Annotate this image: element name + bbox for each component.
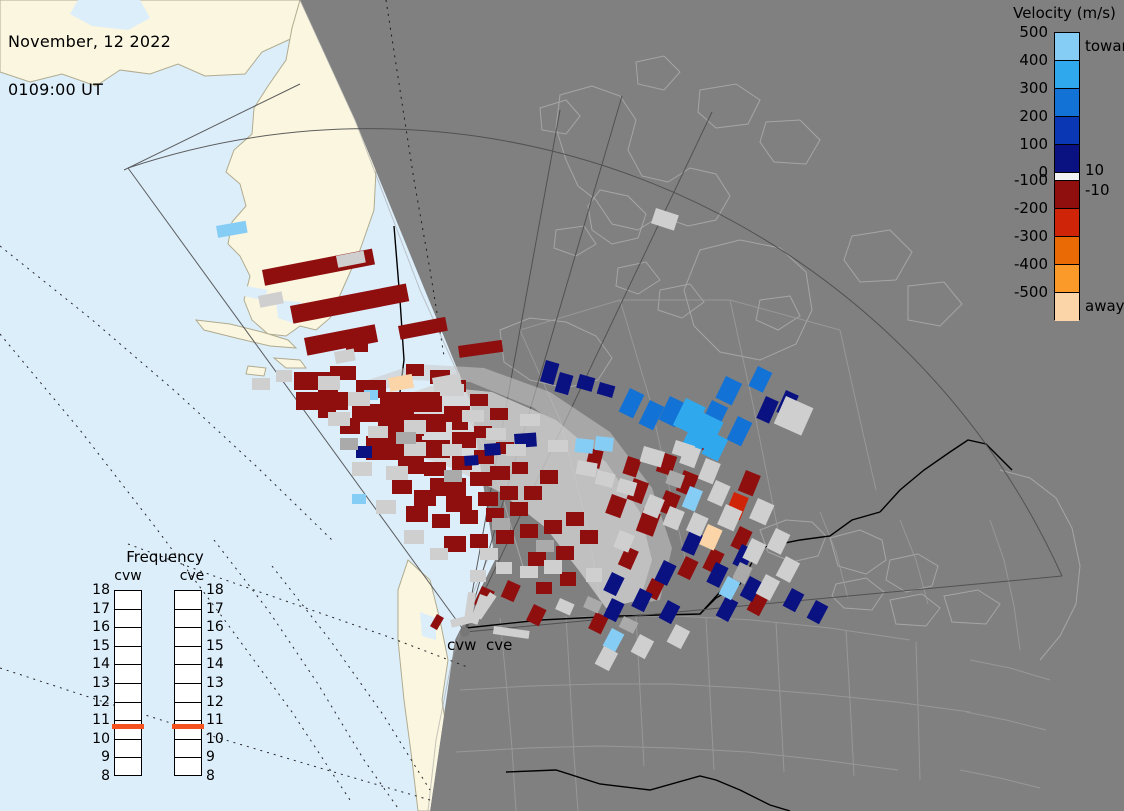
timestamp-date: November, 12 2022 [8, 34, 171, 50]
frequency-row [175, 610, 201, 629]
frequency-row [175, 703, 201, 722]
radar-site-label-cvw: cvw [447, 636, 476, 654]
timestamp-time: 0109:00 UT [8, 82, 171, 98]
frequency-row [115, 740, 141, 759]
frequency-row [115, 591, 141, 610]
colorbar-tick: -400 [1014, 255, 1048, 273]
frequency-tick: 9 [101, 749, 110, 765]
frequency-row [175, 591, 201, 610]
frequency-tick: 12 [206, 694, 224, 710]
frequency-row [115, 703, 141, 722]
colorbar-tick: -500 [1014, 283, 1048, 301]
frequency-tick: 8 [101, 768, 110, 784]
colorbar-tick: -300 [1014, 227, 1048, 245]
colorbar-segment [1055, 145, 1079, 173]
frequency-row [175, 665, 201, 684]
frequency-tick: 17 [206, 601, 224, 617]
colorbar-segment [1055, 117, 1079, 145]
colorbar-tick: 200 [1019, 107, 1048, 125]
frequency-column-cvw: cvw 18171615141312111098 [98, 568, 158, 783]
frequency-tick: 12 [92, 694, 110, 710]
frequency-marker [172, 724, 204, 729]
frequency-row [175, 628, 201, 647]
colorbar-tick: -200 [1014, 199, 1048, 217]
colorbar-side-label: toward [1085, 37, 1124, 55]
velocity-colorbar: Velocity (m/s) 5004003002001000-100-200-… [1003, 4, 1124, 334]
frequency-tick: 18 [206, 582, 224, 598]
colorbar-tick: -100 [1014, 171, 1048, 189]
frequency-tick: 11 [206, 712, 224, 728]
frequency-tick: 13 [206, 675, 224, 691]
frequency-tick: 16 [206, 619, 224, 635]
frequency-column-cve: cve 18171615141312111098 [162, 568, 222, 783]
frequency-row [115, 647, 141, 666]
frequency-row [115, 610, 141, 629]
colorbar-side-label: -10 [1085, 181, 1110, 199]
colorbar-tick: 100 [1019, 135, 1048, 153]
frequency-row [175, 684, 201, 703]
frequency-tick: 11 [92, 712, 110, 728]
frequency-tick: 13 [92, 675, 110, 691]
frequency-row [115, 684, 141, 703]
colorbar-segment [1055, 265, 1079, 293]
colorbar-tick: 400 [1019, 51, 1048, 69]
frequency-tick: 14 [92, 656, 110, 672]
colorbar-tick: 300 [1019, 79, 1048, 97]
radar-site-label-cve: cve [486, 636, 512, 654]
colorbar-segment [1055, 237, 1079, 265]
colorbar-title: Velocity (m/s) [1005, 4, 1124, 22]
frequency-bar-cve[interactable] [174, 590, 202, 776]
frequency-tick: 15 [92, 638, 110, 654]
frequency-row [115, 758, 141, 777]
colorbar-segment [1055, 209, 1079, 237]
frequency-tick: 14 [206, 656, 224, 672]
colorbar-segment [1055, 61, 1079, 89]
colorbar-segment [1055, 33, 1079, 61]
frequency-tick: 9 [206, 749, 215, 765]
colorbar-side-label: 10 [1085, 161, 1104, 179]
frequency-tick: 10 [206, 731, 224, 747]
frequency-tick: 8 [206, 768, 215, 784]
frequency-row [115, 665, 141, 684]
frequency-tick: 15 [206, 638, 224, 654]
colorbar-segment [1055, 89, 1079, 117]
frequency-row [115, 628, 141, 647]
colorbar-segment [1055, 181, 1079, 209]
frequency-bar-cvw[interactable] [114, 590, 142, 776]
colorbar-gradient[interactable] [1054, 32, 1080, 320]
frequency-tick: 17 [92, 601, 110, 617]
frequency-marker [112, 724, 144, 729]
radar-map-figure: November, 12 2022 0109:00 UT Velocity (m… [0, 0, 1124, 811]
colorbar-segment [1055, 173, 1079, 181]
colorbar-side-label: away [1085, 297, 1124, 315]
colorbar-segment [1055, 293, 1079, 321]
frequency-tick: 16 [92, 619, 110, 635]
frequency-row [175, 758, 201, 777]
frequency-row [175, 647, 201, 666]
colorbar-tick: 500 [1019, 23, 1048, 41]
frequency-legend: Frequency cvw 18171615141312111098 cve 1… [100, 548, 230, 788]
frequency-tick: 10 [92, 731, 110, 747]
frequency-tick: 18 [92, 582, 110, 598]
timestamp: November, 12 2022 0109:00 UT [8, 2, 171, 130]
frequency-title: Frequency [100, 548, 230, 566]
frequency-row [175, 740, 201, 759]
